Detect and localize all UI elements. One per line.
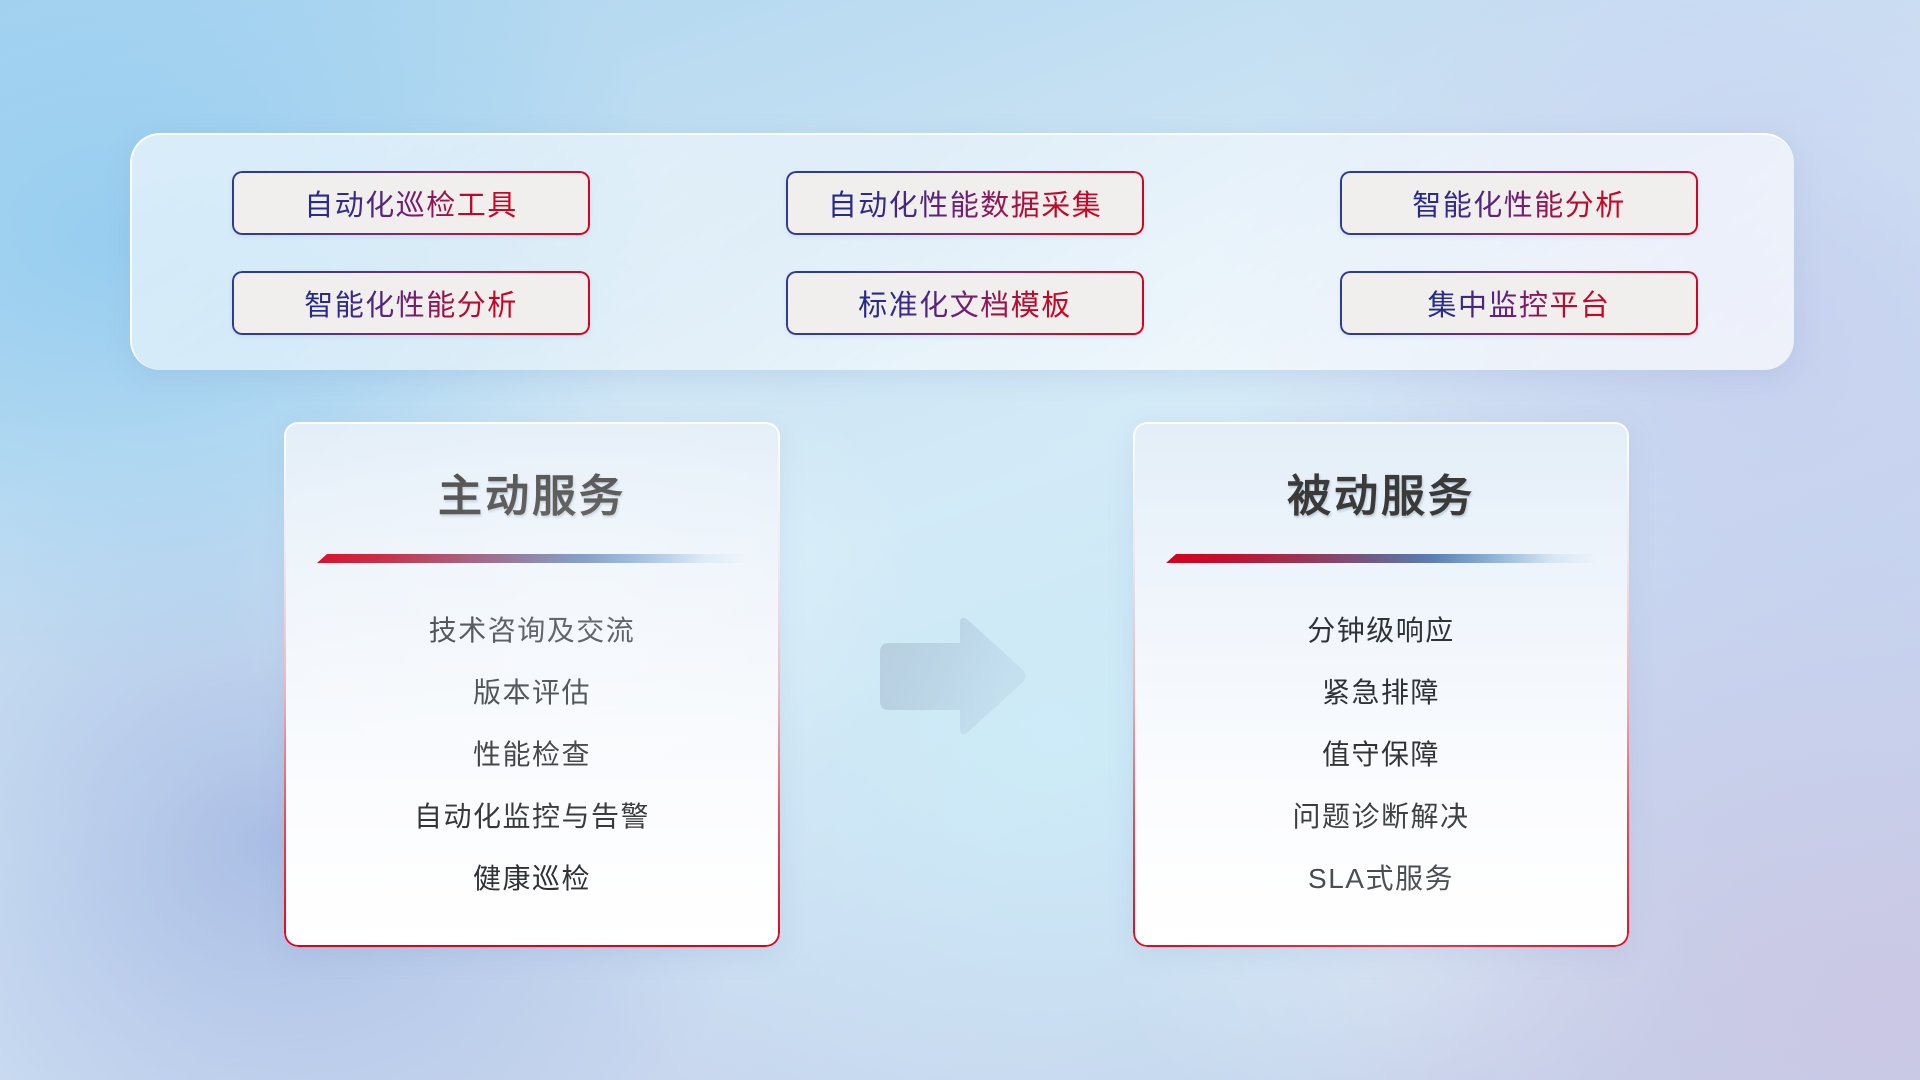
card-divider (1166, 552, 1596, 566)
list-item: 技术咨询及交流 (284, 600, 780, 662)
card-title: 主动服务 (284, 460, 780, 524)
arrow-right-icon (872, 612, 1030, 742)
service-item-list: 技术咨询及交流 版本评估 性能检查 自动化监控与告警 健康巡检 (284, 600, 780, 910)
list-item: 分钟级响应 (1133, 600, 1629, 662)
capability-tag-label: 自动化巡检工具 (304, 182, 518, 224)
capability-tag[interactable]: 智能化性能分析 (1340, 171, 1698, 235)
list-item: 问题诊断解决 (1133, 786, 1629, 848)
gradient-divider-bar (1166, 554, 1596, 563)
capability-tag[interactable]: 标准化文档模板 (786, 271, 1144, 335)
capability-tag[interactable]: 集中监控平台 (1340, 271, 1698, 335)
card-title: 被动服务 (1133, 460, 1629, 524)
capability-tag-label: 自动化性能数据采集 (828, 182, 1103, 224)
card-divider (317, 552, 747, 566)
capability-tag-grid: 自动化巡检工具 自动化性能数据采集 智能化性能分析 智能化性能分析 标准化文档模… (232, 171, 1698, 335)
slide-canvas: 自动化巡检工具 自动化性能数据采集 智能化性能分析 智能化性能分析 标准化文档模… (0, 0, 1920, 1080)
service-card-passive: 被动服务 分钟级响应 紧急排障 值守保障 问题诊断解决 SLA式服务 (1133, 422, 1629, 947)
capability-tag-label: 智能化性能分析 (304, 282, 518, 324)
list-item: 性能检查 (284, 724, 780, 786)
capability-tag[interactable]: 智能化性能分析 (232, 271, 590, 335)
list-item: SLA式服务 (1133, 848, 1629, 910)
capability-tags-panel: 自动化巡检工具 自动化性能数据采集 智能化性能分析 智能化性能分析 标准化文档模… (130, 133, 1794, 370)
capability-tag[interactable]: 自动化巡检工具 (232, 171, 590, 235)
list-item: 自动化监控与告警 (284, 786, 780, 848)
list-item: 健康巡检 (284, 848, 780, 910)
capability-tag-label: 智能化性能分析 (1412, 182, 1626, 224)
service-card-active: 主动服务 技术咨询及交流 版本评估 性能检查 自动化监控与告警 健康巡检 (284, 422, 780, 947)
list-item: 版本评估 (284, 662, 780, 724)
capability-tag-label: 标准化文档模板 (858, 282, 1072, 324)
list-item: 值守保障 (1133, 724, 1629, 786)
capability-tag[interactable]: 自动化性能数据采集 (786, 171, 1144, 235)
gradient-divider-bar (317, 554, 747, 563)
service-item-list: 分钟级响应 紧急排障 值守保障 问题诊断解决 SLA式服务 (1133, 600, 1629, 910)
list-item: 紧急排障 (1133, 662, 1629, 724)
capability-tag-label: 集中监控平台 (1427, 282, 1610, 324)
